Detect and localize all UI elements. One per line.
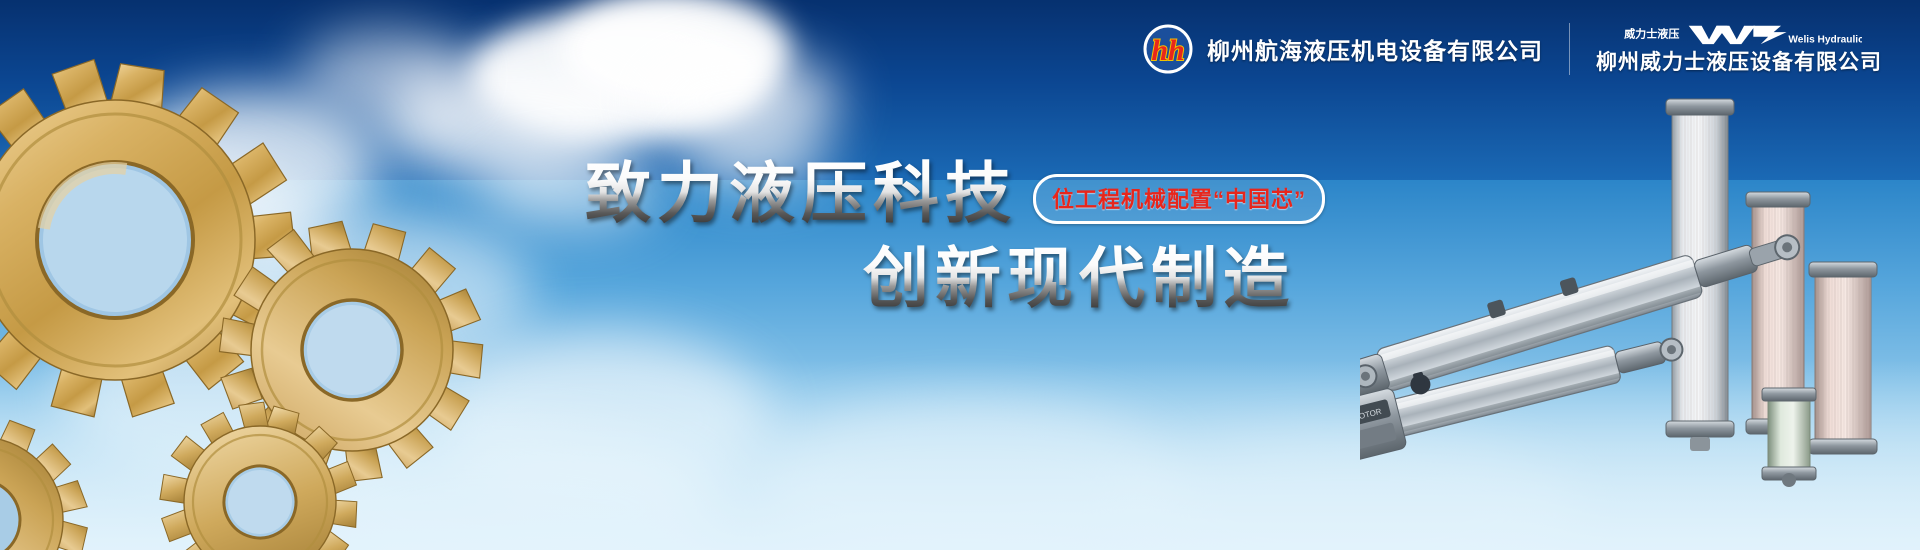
- status-badge: 位工程机械配置“中国芯”: [1033, 174, 1325, 224]
- filter-element-short: [1809, 262, 1877, 454]
- headline-row-1: 致力液压科技 位工程机械配置“中国芯”: [585, 158, 1285, 229]
- headline-line-1: 致力液压科技: [585, 158, 1017, 229]
- company-name-hanghai: 柳州航海液压机电设备有限公司: [1207, 32, 1543, 66]
- headline-line-2: 创新现代制造: [863, 243, 1295, 314]
- hydraulic-products-graphic: MOTOR: [1360, 95, 1920, 550]
- filter-element-stub: [1762, 388, 1816, 487]
- hero-banner: hh 柳州航海液压机电设备有限公司 威力士液压 Welis Hydraulic …: [0, 0, 1920, 550]
- ws-wordmark-logo-icon: 威力士液压 Welis Hydraulic: [1617, 22, 1862, 44]
- company-name-welis: 柳州威力士液压设备有限公司: [1596, 46, 1882, 76]
- svg-text:hh: hh: [1151, 34, 1184, 67]
- golden-gears-graphic: [0, 50, 580, 550]
- headline-row-2: 创新现代制造: [585, 243, 1285, 314]
- logo-hanghai[interactable]: hh 柳州航海液压机电设备有限公司: [1117, 18, 1569, 80]
- svg-text:Welis Hydraulic: Welis Hydraulic: [1788, 34, 1862, 45]
- badge-label: 位工程机械配置“中国芯”: [1052, 187, 1306, 212]
- header-logos: hh 柳州航海液压机电设备有限公司 威力士液压 Welis Hydraulic …: [1117, 18, 1890, 80]
- headline-block: 致力液压科技 位工程机械配置“中国芯” 创新现代制造: [585, 158, 1285, 315]
- logo-welis[interactable]: 威力士液压 Welis Hydraulic 柳州威力士液压设备有限公司: [1570, 18, 1890, 80]
- svg-text:威力士液压: 威力士液压: [1624, 27, 1679, 41]
- hh-circle-logo-icon: hh: [1143, 24, 1193, 74]
